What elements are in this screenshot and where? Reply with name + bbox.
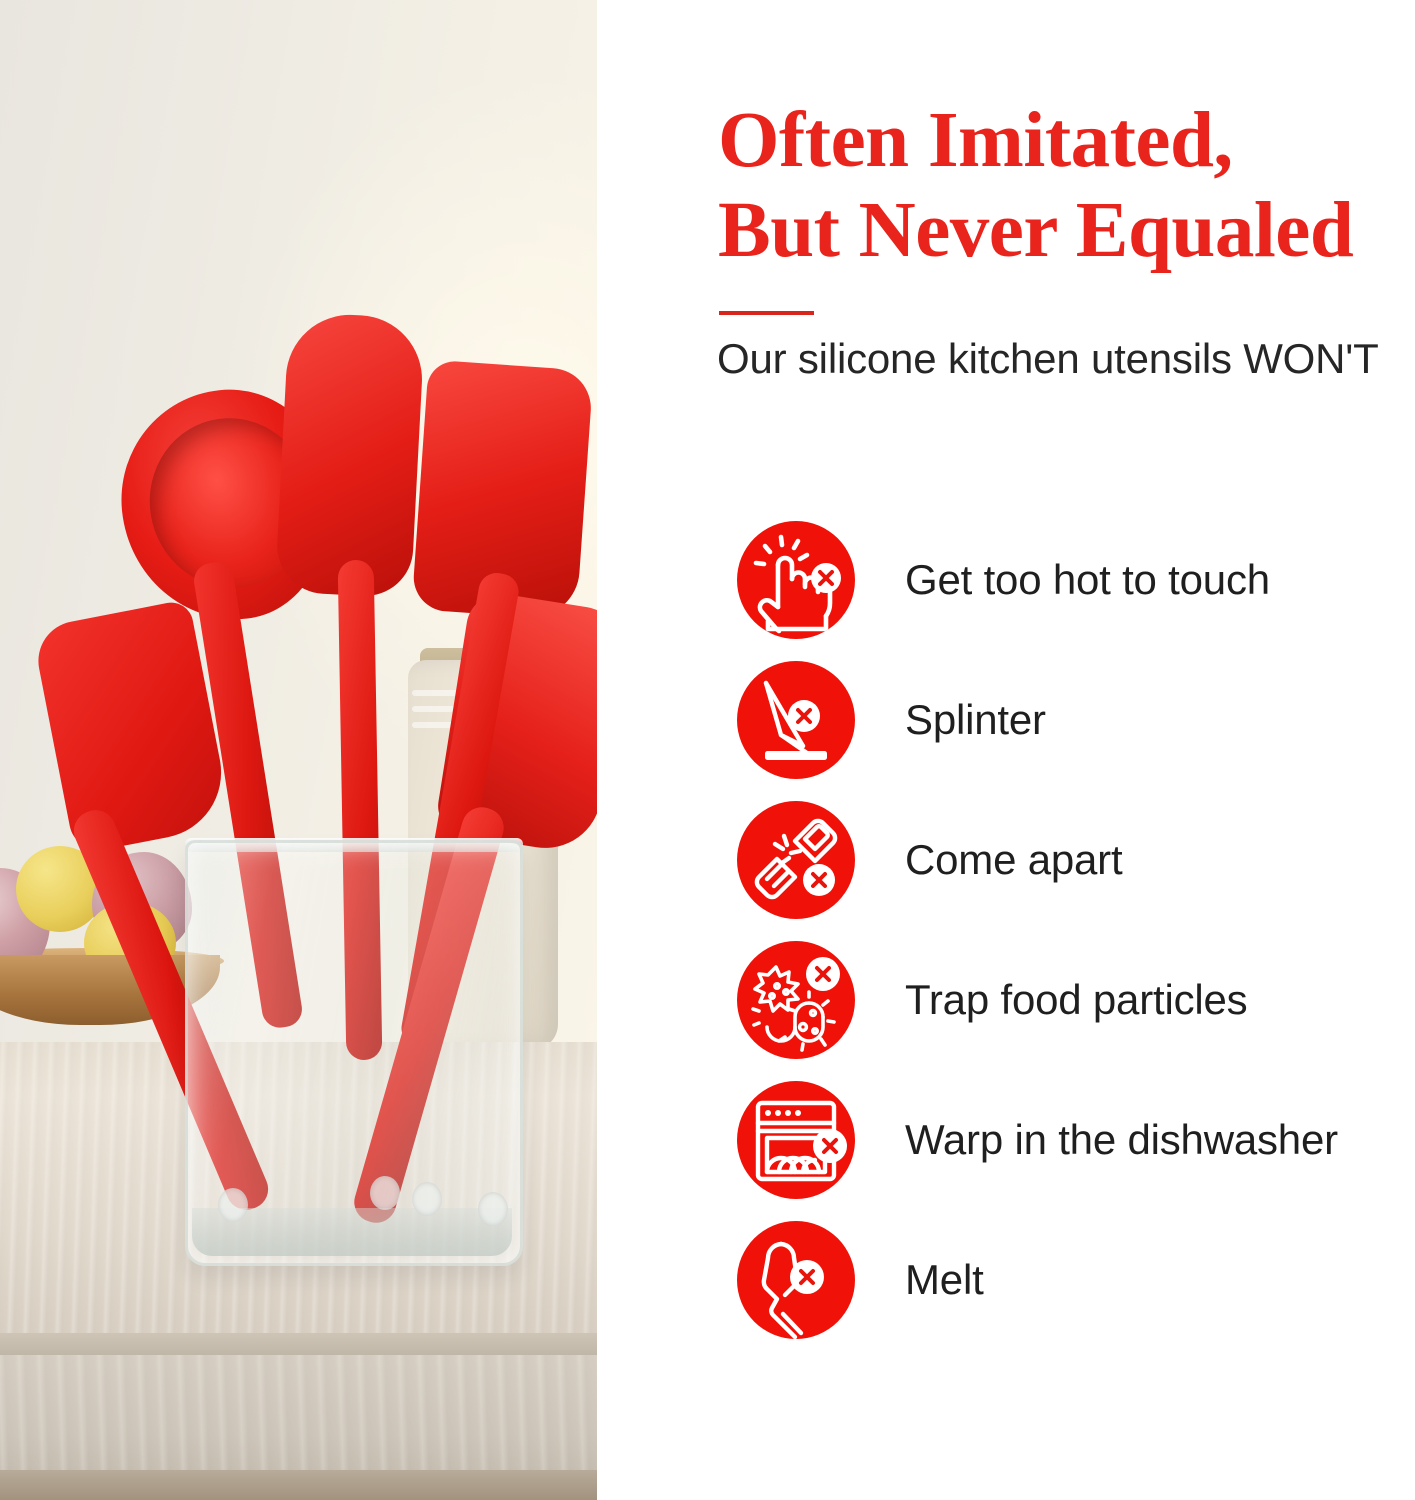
list-item-label: Melt (905, 1259, 984, 1301)
subtitle: Our silicone kitchen utensils WON'T (717, 334, 1415, 384)
broken-spatula-icon (737, 801, 855, 919)
feature-list: Get too hot to touch (597, 510, 1415, 1350)
list-item: Get too hot to touch (597, 510, 1415, 650)
list-item-label: Warp in the dishwasher (905, 1119, 1338, 1161)
content-panel: Often Imitated, But Never Equaled Our si… (597, 0, 1415, 1500)
product-photo (0, 0, 597, 1500)
handle-hang-hole-4 (478, 1192, 508, 1226)
list-item: Warp in the dishwasher (597, 1070, 1415, 1210)
spoon-head (275, 312, 425, 599)
list-item-label: Get too hot to touch (905, 559, 1270, 601)
floor-strip (0, 1470, 597, 1500)
list-item-label: Splinter (905, 699, 1046, 741)
handle-hang-hole-1 (218, 1188, 248, 1222)
list-item: Splinter (597, 650, 1415, 790)
hot-hand-icon (737, 521, 855, 639)
counter-edge (0, 1333, 597, 1357)
melting-spatula-icon (737, 1221, 855, 1339)
page-title: Often Imitated, But Never Equaled (718, 96, 1415, 276)
product-infographic: Often Imitated, But Never Equaled Our si… (0, 0, 1415, 1500)
germs-icon (737, 941, 855, 1059)
list-item-label: Come apart (905, 839, 1122, 881)
list-item: Trap food particles (597, 930, 1415, 1070)
splinter-icon (737, 661, 855, 779)
title-divider (719, 311, 814, 315)
handle-hang-hole-2 (370, 1176, 400, 1210)
list-item: Melt (597, 1210, 1415, 1350)
list-item: Come apart (597, 790, 1415, 930)
handle-hang-hole-3 (412, 1182, 442, 1216)
dishwasher-icon (737, 1081, 855, 1199)
list-item-label: Trap food particles (905, 979, 1247, 1021)
